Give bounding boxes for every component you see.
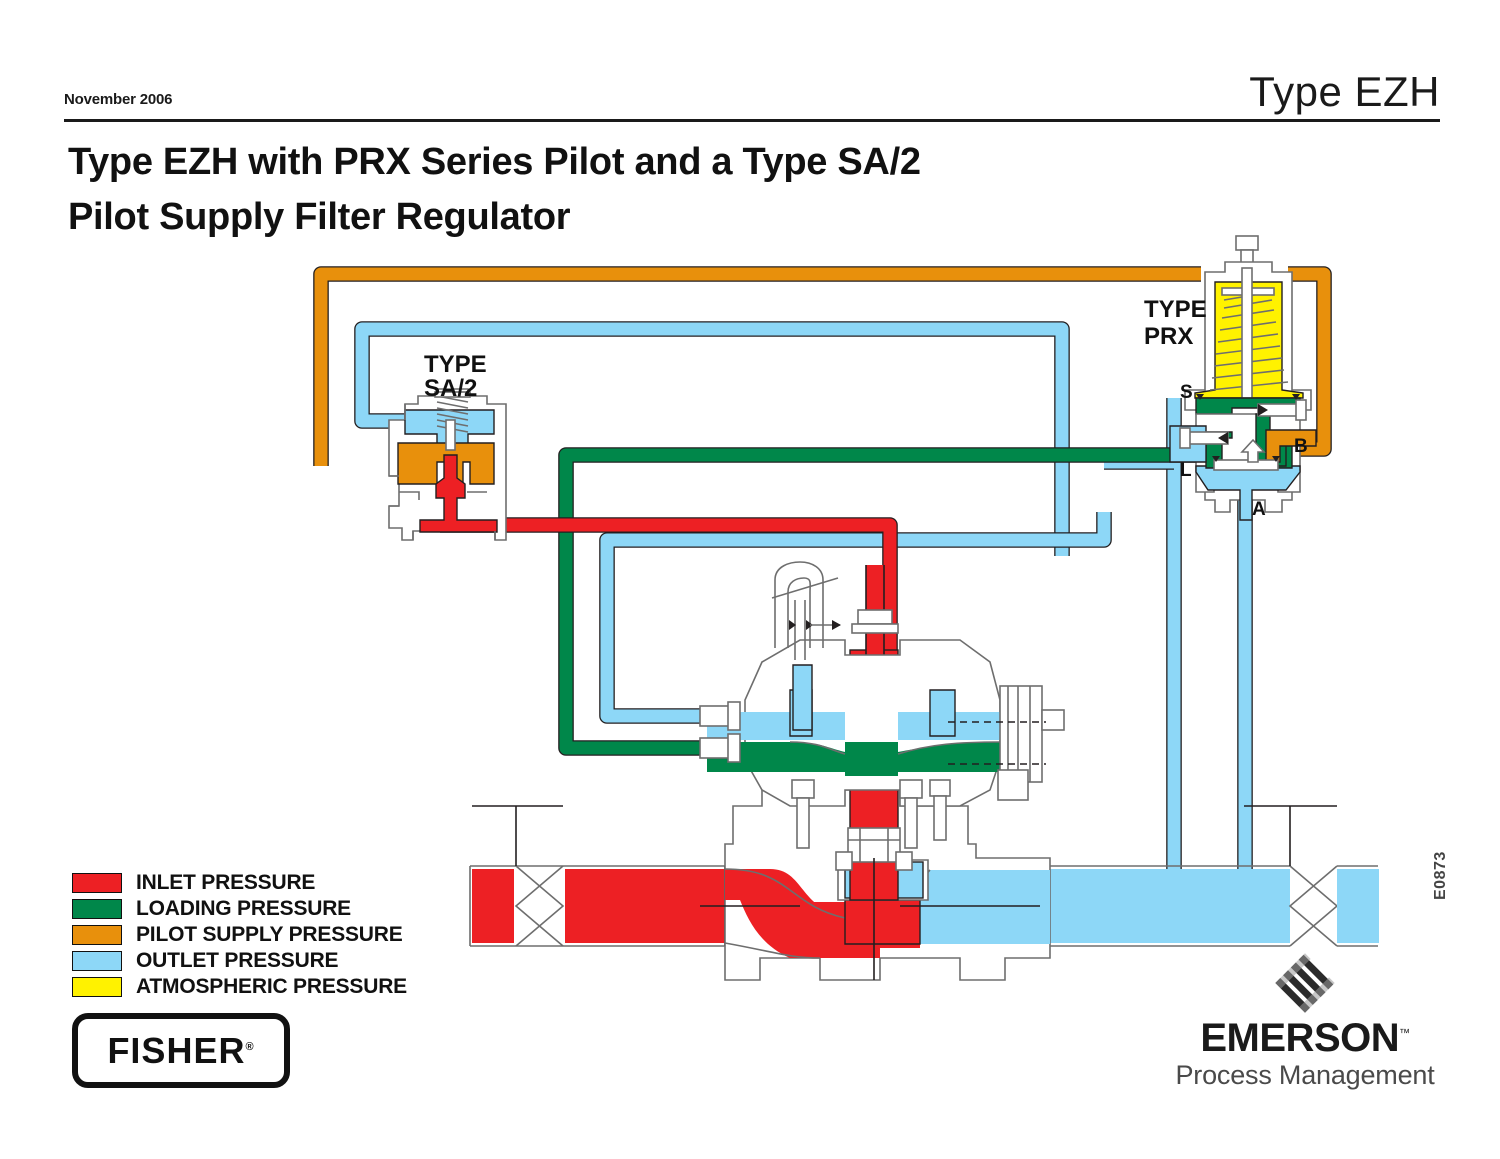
legend-swatch-inlet [72,873,122,893]
type-sa2-filter-regulator: TYPE SA/2 [389,351,506,540]
prx-label-line1: TYPE [1144,296,1207,323]
emerson-tm-mark: ™ [1399,1028,1410,1040]
legend-swatch-atmospheric [72,977,122,997]
pressure-legend: INLET PRESSURE LOADING PRESSURE PILOT SU… [72,870,407,1000]
prx-port-s: S [1180,382,1193,403]
legend-label-outlet: OUTLET PRESSURE [136,949,338,973]
figure-code: E0873 [1432,851,1450,900]
fisher-wordmark-text: FISHER [107,1030,245,1071]
outlet-piping [1050,806,1379,946]
inlet-piping [470,806,725,946]
legend-label-pilot-supply: PILOT SUPPLY PRESSURE [136,923,403,947]
legend-swatch-loading [72,899,122,919]
prx-port-b: B [1294,436,1308,457]
legend-swatch-pilot-supply [72,925,122,945]
legend-item-pilot-supply: PILOT SUPPLY PRESSURE [72,922,407,948]
legend-item-outlet: OUTLET PRESSURE [72,948,407,974]
emerson-wordmark-text: EMERSON [1200,1016,1399,1060]
legend-swatch-outlet [72,951,122,971]
prx-label-line2: PRX [1144,323,1193,350]
emerson-wordmark: EMERSON™ [1175,1018,1435,1058]
prx-port-a: A [1252,499,1266,520]
prx-port-l: L [1180,460,1192,481]
emerson-tagline: Process Management [1175,1060,1435,1091]
legend-item-inlet: INLET PRESSURE [72,870,407,896]
fisher-logo: FISHER® [72,1013,290,1088]
sa2-label-line2: SA/2 [424,375,477,402]
legend-item-atmospheric: ATMOSPHERIC PRESSURE [72,974,407,1000]
document-page: November 2006 Type EZH Type EZH with PRX… [0,0,1500,1159]
legend-label-inlet: INLET PRESSURE [136,871,315,895]
fisher-wordmark: FISHER® [107,1030,254,1072]
legend-label-loading: LOADING PRESSURE [136,897,351,921]
fisher-registered-mark: ® [245,1041,254,1053]
legend-item-loading: LOADING PRESSURE [72,896,407,922]
sa2-label-line1: TYPE [424,351,487,378]
legend-label-atmospheric: ATMOSPHERIC PRESSURE [136,975,407,999]
emerson-diamond-icon [1272,950,1338,1016]
emerson-logo: EMERSON™ Process Management [1175,950,1435,1091]
